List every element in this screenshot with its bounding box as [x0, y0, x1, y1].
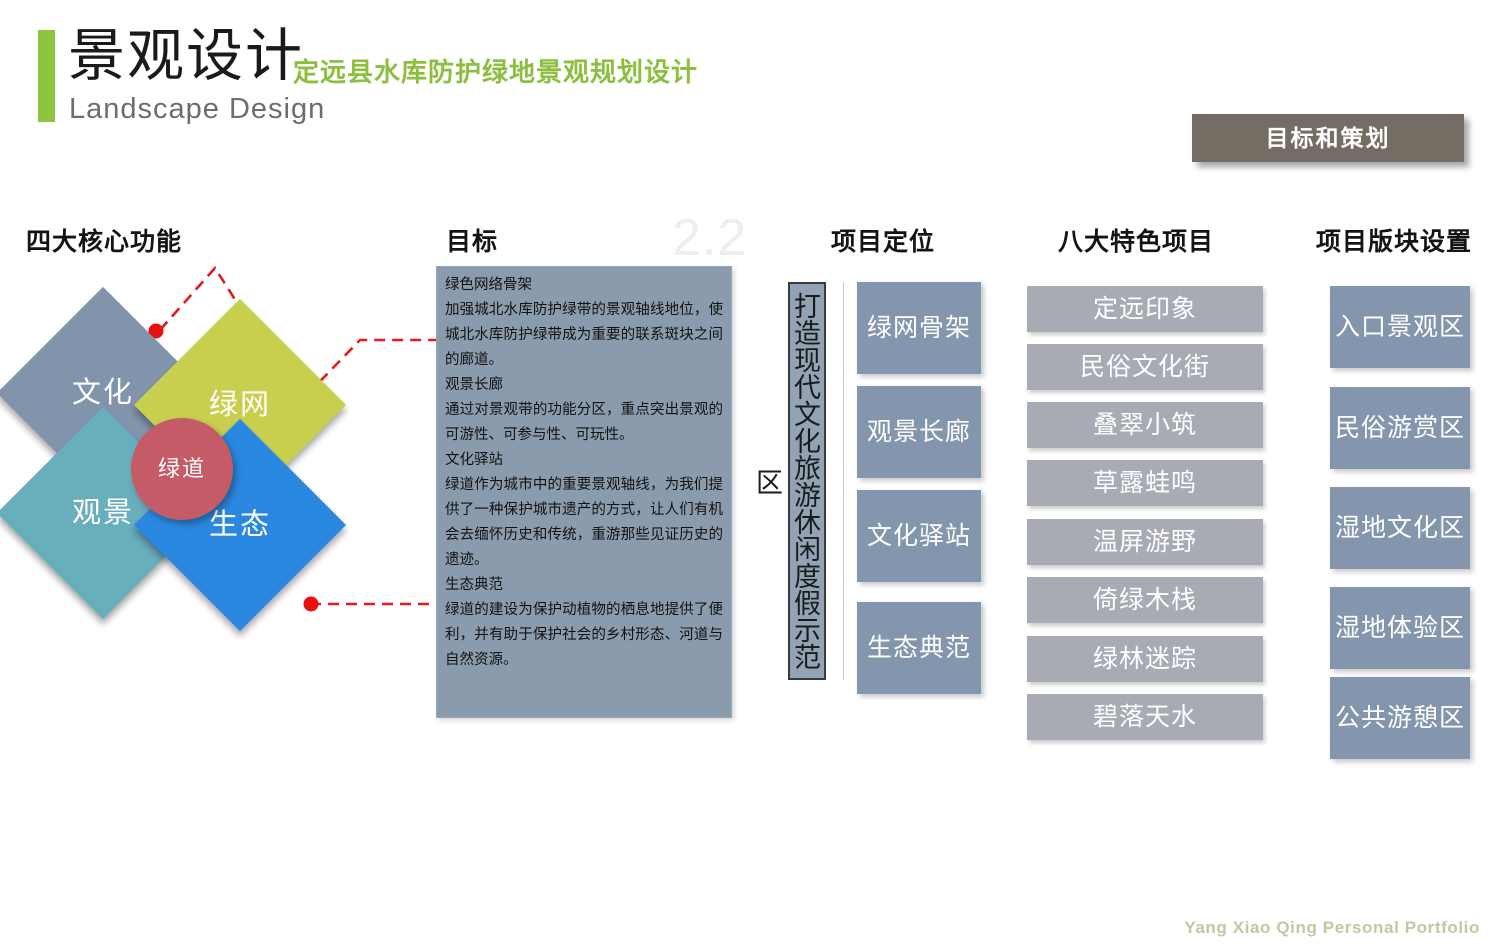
feature-box-2-label: 民俗文化街	[1027, 344, 1263, 390]
position-box-1-label: 绿网骨架	[857, 282, 981, 374]
heading-features: 八大特色项目	[1058, 222, 1214, 258]
goal-body-1: 加强城北水库防护绿带的景观轴线地位，使城北水库防护绿带成为重要的联系斑块之间的廊…	[445, 298, 723, 373]
feature-box-8[interactable]: 碧落天水	[1027, 694, 1263, 740]
position-box-2[interactable]: 观景长廊	[857, 386, 981, 478]
goal-body-3: 绿道作为城市中的重要景观轴线，为我们提供了一种保护城市遗产的方式，让人们有机会去…	[445, 473, 723, 573]
block-box-2-label: 民俗游赏区	[1330, 387, 1470, 469]
heading-core-functions: 四大核心功能	[26, 222, 182, 258]
block-box-3-label: 湿地文化区	[1330, 487, 1470, 569]
feature-box-2[interactable]: 民俗文化街	[1027, 344, 1263, 390]
position-box-1[interactable]: 绿网骨架	[857, 282, 981, 374]
slide-number-watermark: 2.2	[672, 208, 747, 268]
block-box-4[interactable]: 湿地体验区	[1330, 587, 1470, 669]
positioning-divider	[843, 282, 844, 680]
logo-accent-bar	[38, 30, 55, 122]
goal-title-3: 文化驿站	[445, 448, 723, 473]
core-functions-diagram: 文化 绿网 观景 生态 绿道	[14, 288, 354, 618]
goal-title-4: 生态典范	[445, 573, 723, 598]
section-banner: 目标和策划	[1192, 114, 1464, 162]
footer-credit: Yang Xiao Qing Personal Portfolio	[1184, 918, 1480, 938]
feature-box-7-label: 绿林迷踪	[1027, 636, 1263, 682]
position-box-3[interactable]: 文化驿站	[857, 490, 981, 582]
feature-box-3-label: 叠翠小筑	[1027, 402, 1263, 448]
feature-box-6-label: 倚绿木栈	[1027, 577, 1263, 623]
feature-box-1-label: 定远印象	[1027, 286, 1263, 332]
feature-box-5[interactable]: 温屏游野	[1027, 519, 1263, 565]
block-box-4-label: 湿地体验区	[1330, 587, 1470, 669]
block-box-3[interactable]: 湿地文化区	[1330, 487, 1470, 569]
section-banner-label: 目标和策划	[1192, 114, 1464, 162]
goals-panel: 绿色网络骨架 加强城北水库防护绿带的景观轴线地位，使城北水库防护绿带成为重要的联…	[436, 266, 732, 718]
block-box-2[interactable]: 民俗游赏区	[1330, 387, 1470, 469]
feature-box-7[interactable]: 绿林迷踪	[1027, 636, 1263, 682]
block-box-1-label: 入口景观区	[1330, 286, 1470, 368]
brand-logo: 景观设计 Landscape Design	[38, 28, 288, 124]
heading-blocks: 项目版块设置	[1316, 222, 1472, 258]
position-box-2-label: 观景长廊	[857, 386, 981, 478]
goal-body-4: 绿道的建设为保护动植物的栖息地提供了便利，并有助于保护社会的乡村形态、河道与自然…	[445, 598, 723, 673]
goal-body-2: 通过对景观带的功能分区，重点突出景观的可游性、可参与性、可玩性。	[445, 398, 723, 448]
feature-box-8-label: 碧落天水	[1027, 694, 1263, 740]
heading-goals: 目标	[446, 222, 498, 258]
logo-title-cn: 景观设计	[68, 20, 304, 92]
position-box-3-label: 文化驿站	[857, 490, 981, 582]
document-subtitle: 定远县水库防护绿地景观规划设计	[293, 52, 698, 89]
position-box-4[interactable]: 生态典范	[857, 602, 981, 694]
positioning-vertical-label: 打造现代文化旅游休闲度假示范区	[790, 284, 824, 678]
feature-box-3[interactable]: 叠翠小筑	[1027, 402, 1263, 448]
position-box-4-label: 生态典范	[857, 602, 981, 694]
block-box-1[interactable]: 入口景观区	[1330, 286, 1470, 368]
core-circle-greenway[interactable]: 绿道	[131, 418, 233, 520]
core-circle-label: 绿道	[131, 418, 233, 520]
goal-title-2: 观景长廊	[445, 373, 723, 398]
block-box-5[interactable]: 公共游憩区	[1330, 677, 1470, 759]
positioning-vertical-banner: 打造现代文化旅游休闲度假示范区	[788, 282, 826, 680]
logo-title-en: Landscape Design	[69, 92, 325, 126]
feature-box-4[interactable]: 草露蛙鸣	[1027, 460, 1263, 506]
goal-title-1: 绿色网络骨架	[445, 273, 723, 298]
feature-box-6[interactable]: 倚绿木栈	[1027, 577, 1263, 623]
feature-box-1[interactable]: 定远印象	[1027, 286, 1263, 332]
feature-box-4-label: 草露蛙鸣	[1027, 460, 1263, 506]
block-box-5-label: 公共游憩区	[1330, 677, 1470, 759]
feature-box-5-label: 温屏游野	[1027, 519, 1263, 565]
heading-positioning: 项目定位	[831, 222, 935, 258]
